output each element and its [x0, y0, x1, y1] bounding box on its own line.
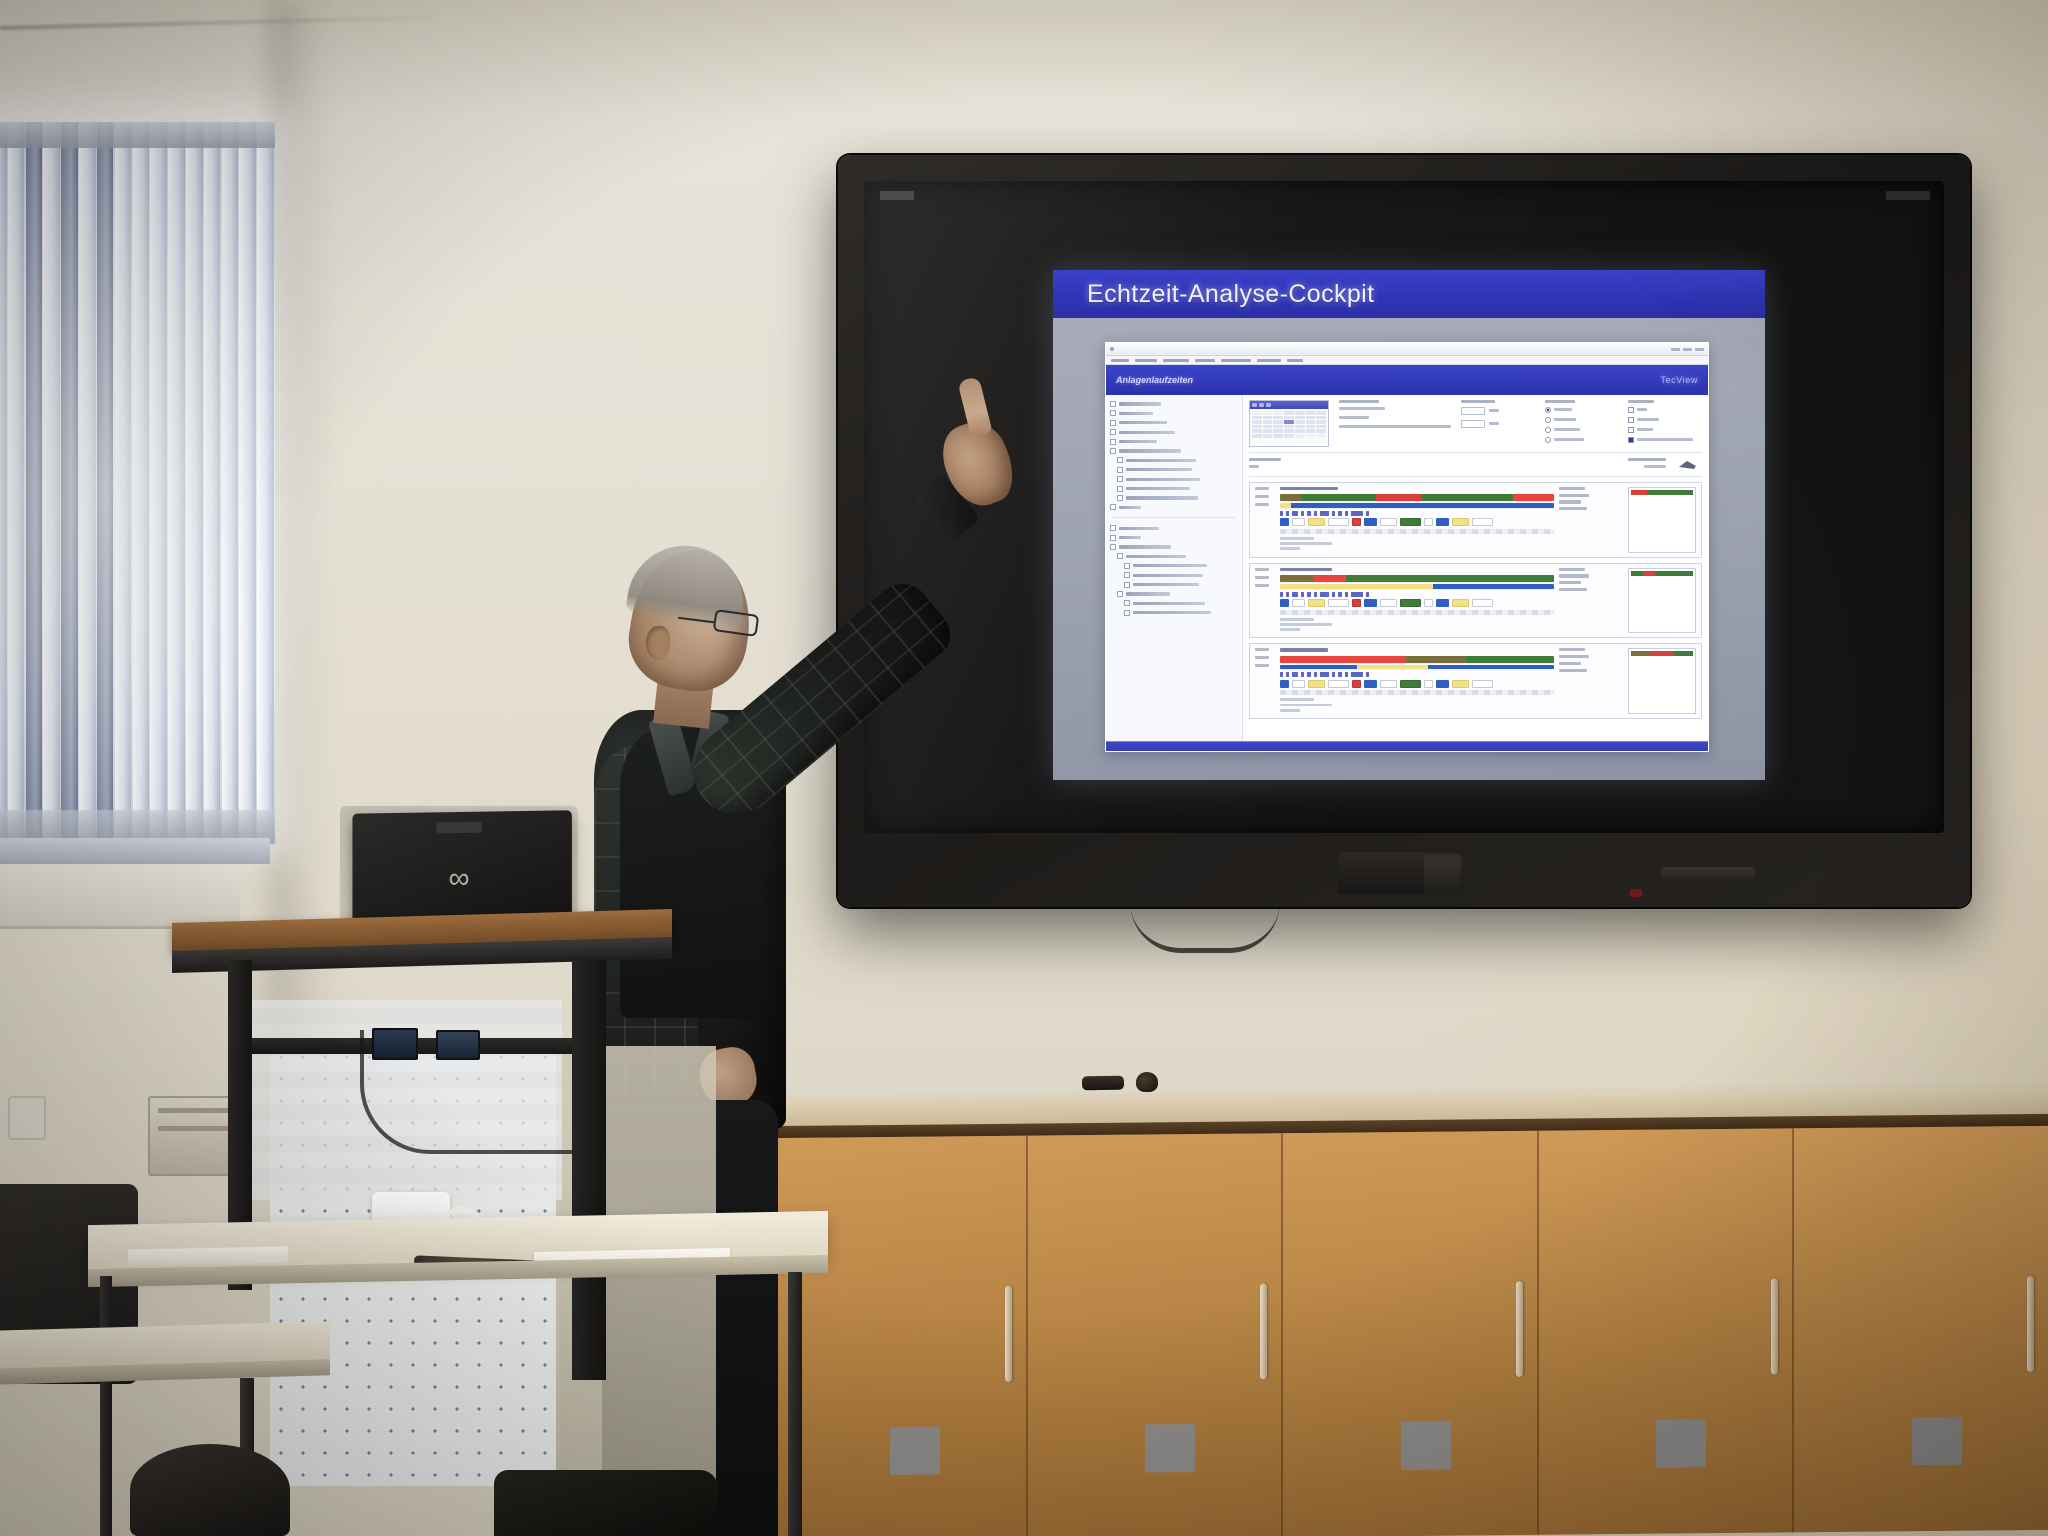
tree-node[interactable] — [1110, 420, 1238, 426]
tree-expand-icon[interactable] — [1117, 591, 1123, 597]
cabinet-handle[interactable] — [1260, 1283, 1267, 1379]
wall-outlet — [8, 1096, 46, 1140]
tree-expand-icon[interactable] — [1110, 544, 1116, 550]
gantt-tick[interactable] — [1286, 672, 1289, 677]
blind-slat[interactable] — [186, 122, 203, 840]
gantt-segment[interactable] — [1406, 656, 1466, 663]
calendar-day[interactable] — [1295, 420, 1305, 424]
gantt-tick[interactable] — [1286, 592, 1289, 597]
schicht-bis-input[interactable] — [1461, 420, 1485, 428]
gantt-tick[interactable] — [1338, 592, 1342, 597]
export-value — [1644, 465, 1666, 468]
presentation-slide: Echtzeit-Analyse-Cockpit Anlagenlaufzeit… — [1053, 270, 1765, 780]
tree-expand-icon[interactable] — [1124, 582, 1130, 588]
tree-node[interactable] — [1110, 476, 1238, 482]
calendar-day[interactable] — [1273, 434, 1283, 438]
date-picker-calendar[interactable] — [1249, 400, 1329, 447]
blind-slat[interactable] — [79, 122, 96, 840]
tree-expand-icon[interactable] — [1110, 504, 1116, 510]
calendar-day-grid[interactable] — [1250, 409, 1328, 440]
gantt-row-label — [1255, 656, 1269, 659]
calendar-day[interactable] — [1263, 416, 1273, 420]
auswahl-value — [1249, 465, 1259, 468]
gantt-block[interactable] — [1249, 643, 1702, 719]
gantt-tick[interactable] — [1320, 592, 1329, 597]
calendar-day[interactable] — [1273, 416, 1283, 420]
zeitraum-value-1 — [1339, 407, 1385, 410]
calendar-day[interactable] — [1284, 429, 1294, 433]
gantt-tick[interactable] — [1292, 511, 1298, 516]
vertical-blinds[interactable] — [0, 122, 275, 840]
calendar-day[interactable] — [1263, 434, 1273, 438]
gantt-chip[interactable] — [1436, 518, 1449, 526]
gantt-chip[interactable] — [1452, 599, 1469, 607]
gantt-timeline — [1280, 487, 1554, 553]
gantt-tick-row — [1280, 510, 1554, 517]
tree-expand-icon[interactable] — [1110, 401, 1116, 407]
blind-slat[interactable] — [222, 122, 239, 840]
gantt-block-list — [1249, 482, 1702, 719]
gantt-chip[interactable] — [1292, 599, 1305, 607]
gantt-legend — [1628, 648, 1696, 714]
tree-expand-icon[interactable] — [1117, 467, 1123, 473]
gantt-segment[interactable] — [1280, 665, 1357, 670]
gantt-tick[interactable] — [1366, 592, 1369, 597]
tree-node[interactable] — [1110, 504, 1238, 510]
gantt-segment[interactable] — [1422, 494, 1512, 501]
gantt-chip[interactable] — [1292, 680, 1305, 688]
calendar-day[interactable] — [1295, 434, 1305, 438]
gantt-tick[interactable] — [1301, 672, 1304, 677]
gantt-chip[interactable] — [1400, 518, 1421, 526]
gantt-tick[interactable] — [1345, 592, 1348, 597]
gantt-tick[interactable] — [1292, 592, 1298, 597]
calendar-day[interactable] — [1306, 420, 1316, 424]
calendar-day[interactable] — [1273, 411, 1283, 415]
cabinet-door[interactable] — [1281, 1131, 1541, 1536]
checkbox-option[interactable] — [1628, 427, 1702, 433]
blind-slat[interactable] — [150, 122, 167, 840]
tree-node[interactable] — [1110, 591, 1238, 597]
gantt-bar[interactable] — [1280, 575, 1554, 582]
tree-expand-icon[interactable] — [1110, 525, 1116, 531]
gantt-tick[interactable] — [1280, 672, 1283, 677]
gantt-tick[interactable] — [1351, 592, 1363, 597]
gantt-segment[interactable] — [1280, 494, 1302, 501]
gantt-chip[interactable] — [1364, 599, 1377, 607]
calendar-day[interactable] — [1263, 420, 1273, 424]
calendar-day[interactable] — [1295, 425, 1305, 429]
calendar-day[interactable] — [1316, 425, 1326, 429]
calendar-day[interactable] — [1252, 411, 1262, 415]
gantt-chip[interactable] — [1424, 599, 1433, 607]
papers-left[interactable] — [128, 1246, 288, 1265]
gantt-chip-row — [1280, 600, 1554, 607]
blind-slat[interactable] — [97, 122, 114, 840]
gantt-chip[interactable] — [1352, 599, 1361, 607]
checkbox-option[interactable] — [1628, 437, 1702, 443]
gantt-legend-segment — [1674, 651, 1693, 656]
tree-expand-icon[interactable] — [1124, 610, 1130, 616]
gantt-tick[interactable] — [1366, 511, 1369, 516]
tree-expand-icon[interactable] — [1124, 572, 1130, 578]
gantt-chip[interactable] — [1364, 680, 1377, 688]
calendar-day[interactable] — [1252, 425, 1262, 429]
gantt-tick[interactable] — [1320, 511, 1329, 516]
gantt-chip[interactable] — [1452, 680, 1469, 688]
radio-group-label — [1545, 400, 1575, 403]
next-month-icon[interactable] — [1266, 403, 1271, 407]
gantt-segment[interactable] — [1280, 584, 1433, 589]
remote-control[interactable] — [1082, 1076, 1124, 1091]
menu-item[interactable] — [1257, 359, 1281, 362]
gantt-tick[interactable] — [1301, 511, 1304, 516]
blind-slat[interactable] — [257, 122, 274, 840]
lectern-leg-right — [572, 960, 606, 1380]
calendar-day[interactable] — [1284, 420, 1294, 424]
gantt-segment[interactable] — [1428, 665, 1554, 670]
gantt-tick[interactable] — [1280, 592, 1283, 597]
calendar-day[interactable] — [1252, 416, 1262, 420]
tree-node-label — [1133, 564, 1207, 567]
radio-icon[interactable] — [1545, 417, 1551, 423]
gantt-chip[interactable] — [1380, 518, 1397, 526]
radio-option[interactable] — [1545, 417, 1619, 423]
gantt-row-label — [1255, 487, 1269, 490]
zeitraum-label — [1339, 400, 1379, 403]
calendar-day[interactable] — [1306, 429, 1316, 433]
calendar-day[interactable] — [1284, 416, 1294, 420]
blind-slat[interactable] — [43, 122, 60, 840]
calendar-day[interactable] — [1316, 420, 1326, 424]
tree-node[interactable] — [1110, 410, 1238, 416]
gantt-segment[interactable] — [1433, 584, 1554, 589]
calendar-day[interactable] — [1316, 429, 1326, 433]
gantt-legend-bar — [1631, 571, 1693, 576]
menu-item[interactable] — [1195, 359, 1215, 362]
gantt-chip[interactable] — [1280, 680, 1289, 688]
gantt-segment[interactable] — [1313, 575, 1346, 582]
gantt-segment[interactable] — [1302, 494, 1376, 501]
gantt-chip[interactable] — [1472, 599, 1493, 607]
blind-slat[interactable] — [133, 122, 150, 840]
cabinet-door[interactable] — [1026, 1133, 1286, 1536]
gantt-chip[interactable] — [1424, 680, 1433, 688]
gantt-chip[interactable] — [1380, 680, 1397, 688]
calendar-day[interactable] — [1295, 416, 1305, 420]
gantt-tick[interactable] — [1292, 672, 1298, 677]
gantt-chip[interactable] — [1352, 680, 1361, 688]
gantt-chip[interactable] — [1436, 599, 1449, 607]
gantt-tick[interactable] — [1307, 592, 1311, 597]
blind-slat[interactable] — [26, 122, 43, 840]
gantt-segment[interactable] — [1280, 656, 1406, 663]
blind-slat[interactable] — [61, 122, 78, 840]
calendar-day[interactable] — [1263, 429, 1273, 433]
tree-expand-icon[interactable] — [1110, 429, 1116, 435]
checkbox-icon[interactable] — [1628, 407, 1634, 413]
menu-item[interactable] — [1221, 359, 1251, 362]
gantt-detail-strip — [1280, 529, 1554, 534]
checkbox-option[interactable] — [1628, 417, 1702, 423]
gantt-chip[interactable] — [1352, 518, 1361, 526]
tree-node[interactable] — [1110, 439, 1238, 445]
gantt-chip[interactable] — [1308, 518, 1325, 526]
prev-month-icon[interactable] — [1252, 403, 1257, 407]
gantt-tick[interactable] — [1307, 672, 1311, 677]
gantt-note-line — [1280, 623, 1332, 626]
gantt-legend-segment — [1647, 490, 1693, 495]
calendar-header[interactable] — [1250, 401, 1328, 409]
minimize-icon[interactable] — [1671, 348, 1680, 351]
cabinet-handle[interactable] — [2027, 1276, 2034, 1372]
calendar-day[interactable] — [1316, 434, 1326, 438]
checkbox-icon[interactable] — [1628, 427, 1634, 433]
radio-icon[interactable] — [1545, 437, 1551, 443]
tree-expand-icon[interactable] — [1117, 486, 1123, 492]
calendar-day[interactable] — [1252, 420, 1262, 424]
blind-slat[interactable] — [115, 122, 132, 840]
menu-item[interactable] — [1287, 359, 1303, 362]
tree-expand-icon[interactable] — [1110, 420, 1116, 426]
checkbox-icon[interactable] — [1628, 417, 1634, 423]
gantt-tick[interactable] — [1301, 592, 1304, 597]
export-label — [1628, 458, 1666, 461]
tree-expand-icon[interactable] — [1117, 495, 1123, 501]
selection-row — [1249, 458, 1702, 471]
gantt-tick[interactable] — [1320, 672, 1329, 677]
gantt-summary — [1559, 648, 1623, 714]
gantt-tick-row — [1280, 671, 1554, 678]
gantt-tick[interactable] — [1351, 511, 1363, 516]
tree-node-label — [1133, 602, 1205, 605]
tree-node[interactable] — [1110, 553, 1238, 559]
gantt-chip[interactable] — [1308, 599, 1325, 607]
schicht-von-input[interactable] — [1461, 407, 1485, 415]
app-window-controls[interactable] — [1671, 348, 1704, 351]
blind-slat[interactable] — [8, 122, 25, 840]
calendar-day[interactable] — [1263, 425, 1273, 429]
gantt-chip[interactable] — [1452, 518, 1469, 526]
gantt-chip[interactable] — [1280, 518, 1289, 526]
gantt-segment[interactable] — [1346, 575, 1554, 582]
gantt-segment[interactable] — [1291, 503, 1554, 508]
gantt-chip[interactable] — [1328, 518, 1349, 526]
schicht-radio-group[interactable] — [1545, 400, 1619, 447]
podium-cables — [360, 1030, 574, 1154]
checkbox-option[interactable] — [1628, 407, 1702, 413]
close-icon[interactable] — [1695, 348, 1704, 351]
tree-node[interactable] — [1110, 563, 1238, 569]
gantt-segment[interactable] — [1357, 665, 1428, 670]
menu-item[interactable] — [1135, 359, 1157, 362]
gantt-legend-segment — [1631, 651, 1650, 656]
calendar-day[interactable] — [1252, 434, 1262, 438]
gantt-tick[interactable] — [1351, 672, 1363, 677]
blind-slat[interactable] — [204, 122, 221, 840]
calendar-day[interactable] — [1306, 425, 1316, 429]
tree-node[interactable] — [1110, 610, 1238, 616]
gantt-summary-label — [1559, 588, 1587, 591]
tree-node[interactable] — [1110, 495, 1238, 501]
gantt-bar[interactable] — [1280, 656, 1554, 663]
gantt-note-line — [1280, 709, 1300, 712]
gantt-tick[interactable] — [1314, 592, 1317, 597]
gantt-tick[interactable] — [1280, 511, 1283, 516]
gantt-tick[interactable] — [1307, 511, 1311, 516]
radio-option[interactable] — [1545, 407, 1619, 413]
tree-node[interactable] — [1110, 401, 1238, 407]
cabinet-handle[interactable] — [1516, 1281, 1523, 1377]
tree-expand-icon[interactable] — [1124, 600, 1130, 606]
calendar-day[interactable] — [1284, 425, 1294, 429]
gantt-tick[interactable] — [1338, 511, 1342, 516]
gantt-tick[interactable] — [1332, 592, 1335, 597]
app-menubar[interactable] — [1106, 356, 1708, 365]
tree-node[interactable] — [1110, 486, 1238, 492]
gantt-bar[interactable] — [1280, 665, 1554, 670]
tree-node[interactable] — [1110, 525, 1238, 531]
tree-expand-icon[interactable] — [1117, 476, 1123, 482]
gantt-chip[interactable] — [1292, 518, 1305, 526]
chair-foreground[interactable] — [130, 1444, 290, 1536]
tree-node[interactable] — [1110, 582, 1238, 588]
gantt-bar[interactable] — [1280, 503, 1554, 508]
gantt-chip[interactable] — [1400, 599, 1421, 607]
gantt-chip[interactable] — [1400, 680, 1421, 688]
gantt-segment[interactable] — [1466, 656, 1554, 663]
calendar-day[interactable] — [1295, 411, 1305, 415]
gantt-tick[interactable] — [1338, 672, 1342, 677]
calendar-day[interactable] — [1306, 434, 1316, 438]
gantt-chip[interactable] — [1472, 518, 1493, 526]
conference-room-scene: Echtzeit-Analyse-Cockpit Anlagenlaufzeit… — [0, 0, 2048, 1536]
gantt-tick[interactable] — [1345, 672, 1348, 677]
gantt-tick-row — [1280, 591, 1554, 598]
gantt-chip[interactable] — [1308, 680, 1325, 688]
calendar-day[interactable] — [1263, 411, 1273, 415]
tree-node[interactable] — [1110, 600, 1238, 606]
blind-slat[interactable] — [168, 122, 185, 840]
gantt-chip[interactable] — [1328, 680, 1349, 688]
gantt-chip[interactable] — [1380, 599, 1397, 607]
box-slot-2 — [158, 1126, 230, 1131]
calendar-day[interactable] — [1295, 429, 1305, 433]
gantt-chip[interactable] — [1472, 680, 1493, 688]
tree-expand-icon[interactable] — [1124, 563, 1130, 569]
gantt-tick[interactable] — [1332, 511, 1335, 516]
auswahl-label — [1249, 458, 1281, 461]
tree-node[interactable] — [1110, 457, 1238, 463]
auswahl-group — [1249, 458, 1566, 471]
radio-icon[interactable] — [1545, 407, 1551, 413]
window-sill — [0, 838, 270, 864]
checkbox-icon[interactable] — [1628, 437, 1634, 443]
calendar-day[interactable] — [1306, 416, 1316, 420]
tree-expand-icon[interactable] — [1110, 410, 1116, 416]
radio-option-label — [1554, 428, 1580, 431]
zeitraum-value-3 — [1339, 425, 1451, 428]
blind-slat[interactable] — [0, 122, 7, 840]
gantt-tick[interactable] — [1332, 672, 1335, 677]
calendar-day[interactable] — [1273, 425, 1283, 429]
gantt-legend — [1628, 568, 1696, 634]
gantt-chip[interactable] — [1424, 518, 1433, 526]
gantt-segment[interactable] — [1280, 575, 1313, 582]
calendar-day[interactable] — [1284, 434, 1294, 438]
navigation-tree[interactable] — [1106, 395, 1243, 741]
tree-expand-icon[interactable] — [1110, 439, 1116, 445]
cabinet-handle[interactable] — [1005, 1286, 1012, 1382]
panel-divider-2 — [1249, 476, 1702, 477]
calendar-day[interactable] — [1316, 416, 1326, 420]
tree-expand-icon[interactable] — [1117, 553, 1123, 559]
gantt-segment[interactable] — [1280, 503, 1291, 508]
gantt-bar[interactable] — [1280, 584, 1554, 589]
radio-icon[interactable] — [1545, 427, 1551, 433]
cabinet-door[interactable] — [1537, 1128, 1797, 1534]
gantt-tick[interactable] — [1314, 672, 1317, 677]
cabinet-handle[interactable] — [1771, 1278, 1778, 1374]
tree-node[interactable] — [1110, 535, 1238, 541]
gantt-bar[interactable] — [1280, 494, 1554, 501]
gantt-segment[interactable] — [1376, 494, 1423, 501]
gantt-chip[interactable] — [1364, 518, 1377, 526]
gantt-tick[interactable] — [1314, 511, 1317, 516]
tree-node[interactable] — [1110, 448, 1238, 454]
gantt-chip[interactable] — [1328, 599, 1349, 607]
gantt-chip[interactable] — [1436, 680, 1449, 688]
calendar-label — [1259, 403, 1264, 407]
calendar-day[interactable] — [1306, 411, 1316, 415]
calendar-day[interactable] — [1284, 411, 1294, 415]
gantt-notes — [1280, 618, 1554, 631]
radio-option[interactable] — [1545, 437, 1619, 443]
blind-slat[interactable] — [239, 122, 256, 840]
calendar-day[interactable] — [1273, 420, 1283, 424]
cabinet-door[interactable] — [1792, 1126, 2048, 1532]
small-object-on-counter[interactable] — [1136, 1072, 1158, 1092]
calendar-day[interactable] — [1252, 429, 1262, 433]
wall-connection-box — [1338, 852, 1424, 894]
gantt-row-label — [1255, 503, 1269, 506]
tree-expand-icon[interactable] — [1110, 535, 1116, 541]
menu-item[interactable] — [1163, 359, 1189, 362]
radio-option[interactable] — [1545, 427, 1619, 433]
maximize-icon[interactable] — [1683, 348, 1692, 351]
gantt-block[interactable] — [1249, 482, 1702, 558]
tree-expand-icon[interactable] — [1117, 457, 1123, 463]
gantt-tick[interactable] — [1345, 511, 1348, 516]
gantt-summary — [1559, 568, 1623, 634]
gantt-chip[interactable] — [1280, 599, 1289, 607]
menu-item[interactable] — [1111, 359, 1129, 362]
export-icon[interactable] — [1676, 458, 1702, 471]
tree-expand-icon[interactable] — [1110, 448, 1116, 454]
tree-node[interactable] — [1110, 572, 1238, 578]
bag-on-floor[interactable] — [494, 1470, 718, 1536]
gantt-block[interactable] — [1249, 563, 1702, 639]
tree-node[interactable] — [1110, 429, 1238, 435]
gantt-tick[interactable] — [1366, 672, 1369, 677]
gantt-tick[interactable] — [1286, 511, 1289, 516]
gantt-segment[interactable] — [1513, 494, 1554, 501]
tree-node[interactable] — [1110, 467, 1238, 473]
tree-node[interactable] — [1110, 544, 1238, 550]
calendar-day[interactable] — [1316, 411, 1326, 415]
calendar-day[interactable] — [1273, 429, 1283, 433]
anzeige-checkbox-group[interactable] — [1628, 400, 1702, 447]
